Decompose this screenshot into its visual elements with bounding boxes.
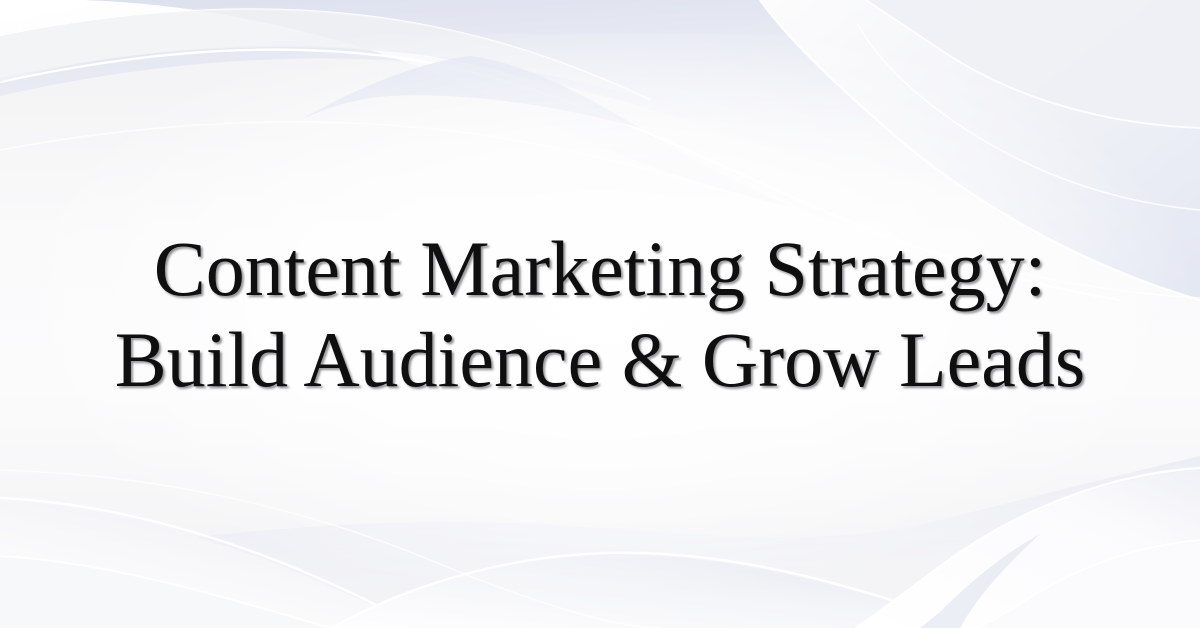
banner-canvas: Content Marketing Strategy: Build Audien… — [0, 0, 1200, 628]
background-wave-decoration — [0, 0, 1200, 628]
